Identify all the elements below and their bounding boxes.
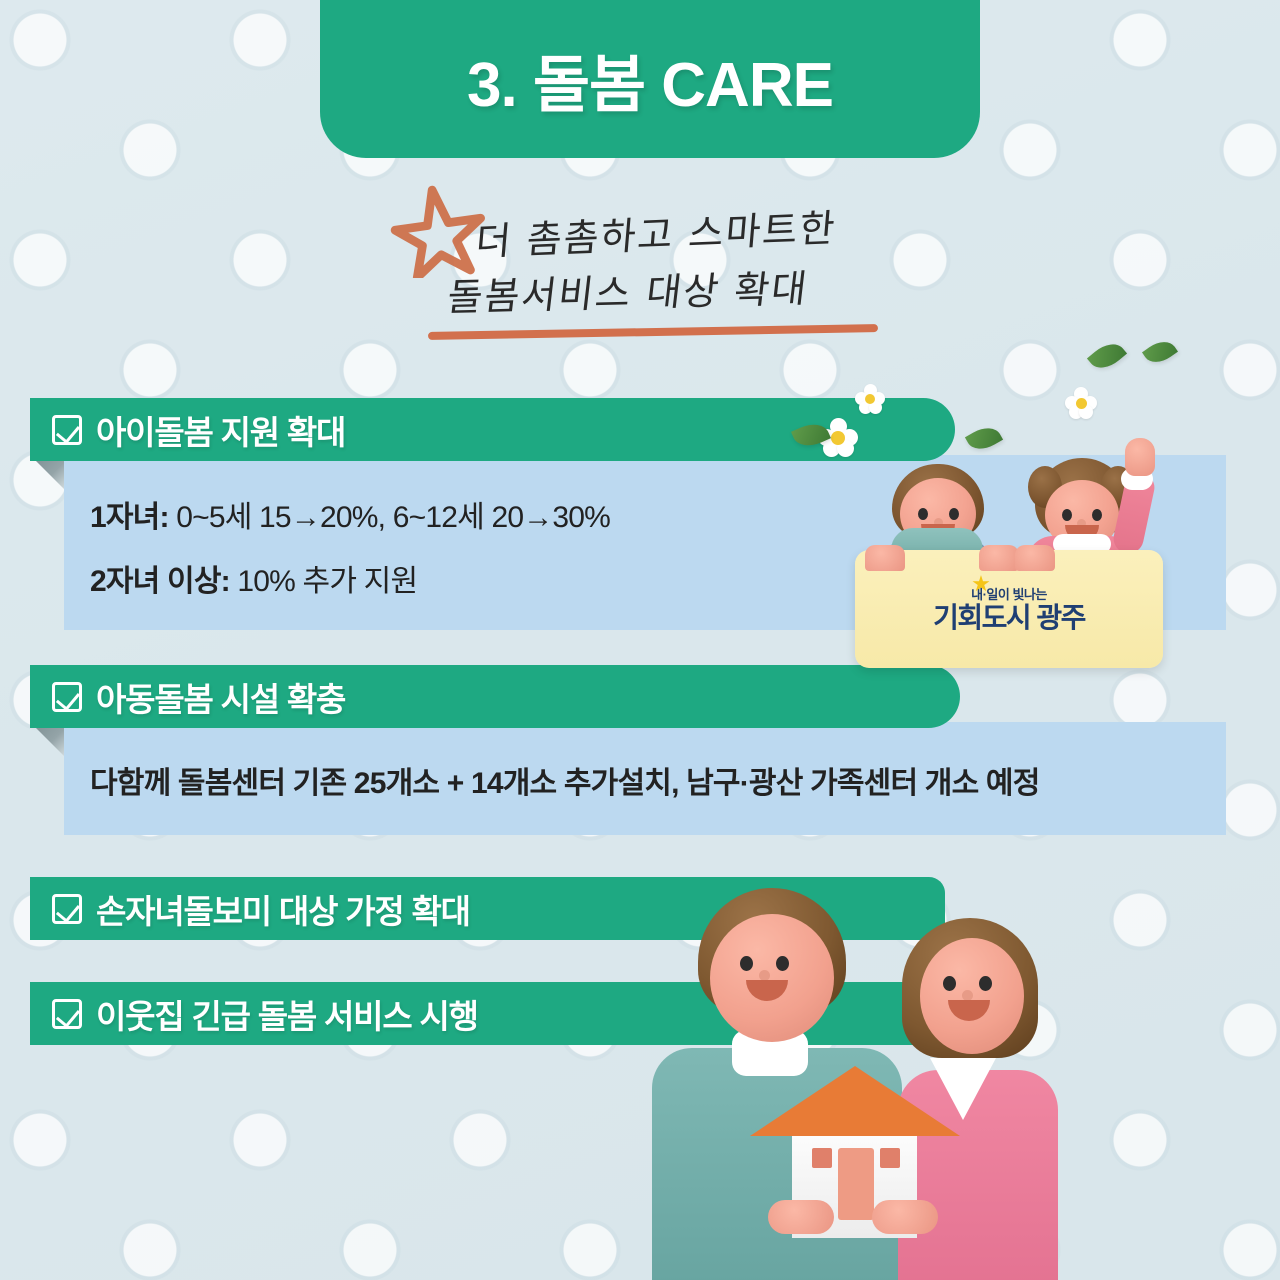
checkbox-checked-icon bbox=[52, 999, 82, 1029]
children-with-sign-illustration: ★ 내·일이 빛나는 기회도시 광주 bbox=[845, 432, 1185, 667]
flower-icon bbox=[1065, 387, 1097, 419]
boy-hand-left bbox=[865, 545, 905, 571]
section-4-title: 이웃집 긴급 돌봄 서비스 시행 bbox=[96, 990, 478, 1038]
section-1-title: 아이돌봄 지원 확대 bbox=[96, 406, 345, 454]
man-eye-right bbox=[776, 956, 789, 971]
section-1-body-label-1: 1자녀: bbox=[90, 501, 169, 534]
man-head bbox=[710, 914, 834, 1042]
section-1-body-value-1: 0~5세 15→20%, 6~12세 20→30% bbox=[169, 501, 610, 534]
boy-eye-right bbox=[949, 508, 959, 520]
gwangju-logo: ★ 내·일이 빛나는 기회도시 광주 bbox=[855, 588, 1163, 632]
star-icon: ★ bbox=[971, 574, 991, 594]
infographic-poster: 3. 돌봄 CARE 더 촘촘하고 스마트한 돌봄서비스 대상 확대 1자녀: … bbox=[0, 0, 1280, 1280]
section-1-body-line-2: 2자녀 이상: 10% 추가 지원 bbox=[90, 556, 417, 600]
boy-eye-left bbox=[918, 508, 928, 520]
handwritten-tagline: 더 촘촘하고 스마트한 돌봄서비스 대상 확대 bbox=[390, 180, 910, 350]
section-1-body-line-1: 1자녀: 0~5세 15→20%, 6~12세 20→30% bbox=[90, 492, 610, 536]
girl-hand-wave bbox=[1125, 438, 1155, 476]
house-window-right bbox=[880, 1148, 900, 1168]
logo-slogan-small: 내·일이 빛나는 bbox=[855, 588, 1163, 601]
star-icon bbox=[390, 182, 486, 278]
man-eye-left bbox=[740, 956, 753, 971]
section-2-body-line-1: 다함께 돌봄센터 기존 25개소 + 14개소 추가설치, 남구·광산 가족센터… bbox=[90, 758, 1040, 802]
house-door bbox=[838, 1148, 874, 1220]
section-1-body-value-2: 10% 추가 지원 bbox=[230, 565, 417, 598]
section-2-panel: 다함께 돌봄센터 기존 25개소 + 14개소 추가설치, 남구·광산 가족센터… bbox=[64, 722, 1226, 835]
flower-icon bbox=[855, 384, 885, 414]
girl-eye-right bbox=[1092, 509, 1102, 521]
checkbox-checked-icon bbox=[52, 415, 82, 445]
tagline-line-1: 더 촘촘하고 스마트한 bbox=[474, 197, 839, 266]
page-title: 3. 돌봄 CARE bbox=[467, 24, 833, 124]
section-2-title: 아동돌봄 시설 확충 bbox=[96, 673, 345, 721]
house-window-left bbox=[812, 1148, 832, 1168]
tagline-line-2: 돌봄서비스 대상 확대 bbox=[445, 258, 812, 322]
checkbox-checked-icon bbox=[52, 682, 82, 712]
logo-slogan-big: 기회도시 광주 bbox=[933, 604, 1085, 632]
section-2-body-label-1: 다함께 돌봄센터 기존 25개소 + 14개소 추가설치, 남구·광산 가족센터… bbox=[90, 767, 1040, 800]
woman-eye-left bbox=[943, 976, 956, 991]
girl-eye-left bbox=[1062, 509, 1072, 521]
boy-hand-right bbox=[979, 545, 1019, 571]
section-2-header[interactable]: 아동돌봄 시설 확충 bbox=[30, 665, 960, 728]
girl-hand-left bbox=[1015, 545, 1055, 571]
couple-with-house-illustration bbox=[640, 880, 1060, 1280]
tagline-underline bbox=[428, 324, 878, 340]
checkbox-checked-icon bbox=[52, 894, 82, 924]
man-hand bbox=[768, 1200, 834, 1234]
section-1-body-label-2: 2자녀 이상: bbox=[90, 565, 230, 598]
house-roof bbox=[750, 1066, 960, 1136]
woman-eye-right bbox=[979, 976, 992, 991]
woman-hand bbox=[872, 1200, 938, 1234]
title-banner: 3. 돌봄 CARE bbox=[320, 0, 980, 158]
section-3-title: 손자녀돌보미 대상 가정 확대 bbox=[96, 885, 470, 933]
